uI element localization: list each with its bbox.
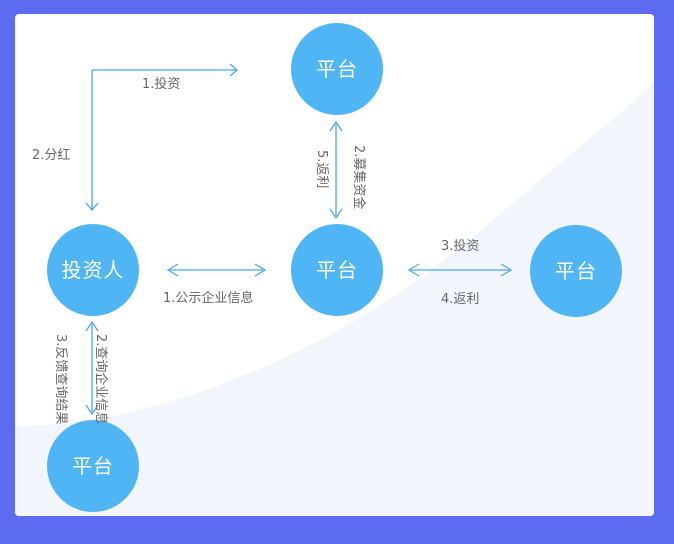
edge-label-fanli-4: 4.返利 [441, 293, 479, 308]
edge-label-fanli-5: 5.返利 [313, 150, 328, 188]
edge-label-muji-zijin-2: 2.募集资金 [350, 145, 365, 209]
arrow-touzi-1-head [230, 64, 237, 76]
arrow-center-right-right-head [501, 264, 511, 276]
node-platform-center[interactable]: 平台 [291, 224, 383, 316]
diagram-panel: 平台 平台 平台 投资人 平台 1.投资 2.分红 1.公示企业信息 3.投资 … [15, 14, 654, 516]
node-platform-top[interactable]: 平台 [291, 23, 383, 115]
arrow-fenhong-2-head [86, 203, 98, 210]
arrow-investor-center-right-head [255, 264, 265, 276]
node-platform-top-label: 平台 [316, 59, 358, 79]
edge-label-touzi-3: 3.投资 [441, 240, 479, 255]
node-platform-bottom-label: 平台 [72, 456, 114, 476]
node-platform-right[interactable]: 平台 [530, 225, 622, 317]
node-investor-label: 投资人 [62, 260, 125, 280]
node-investor[interactable]: 投资人 [47, 224, 139, 316]
arrow-center-right-left-head [409, 264, 419, 276]
diagram-canvas: 平台 平台 平台 投资人 平台 1.投资 2.分红 1.公示企业信息 3.投资 … [0, 0, 674, 544]
arrow-top-center-up-head [330, 122, 342, 131]
edge-label-fankui-chaxun-jieguo-3: 3.反馈查询结果 [52, 334, 67, 424]
node-platform-right-label: 平台 [555, 261, 597, 281]
edge-label-touzi-1: 1.投资 [142, 78, 180, 93]
arrow-investor-center-left-head [168, 264, 178, 276]
edge-label-chaxun-qiye-xinxi-2: 2.查询企业信息 [92, 334, 107, 424]
node-platform-bottom[interactable]: 平台 [47, 420, 139, 512]
edge-label-gongshi-qiye-xinxi-1: 1.公示企业信息 [163, 292, 253, 307]
arrow-investor-bottom-up-head [86, 322, 98, 331]
edge-label-fenhong-2: 2.分红 [32, 149, 70, 164]
node-platform-center-label: 平台 [316, 260, 358, 280]
arrow-top-center-down-head [330, 209, 342, 218]
